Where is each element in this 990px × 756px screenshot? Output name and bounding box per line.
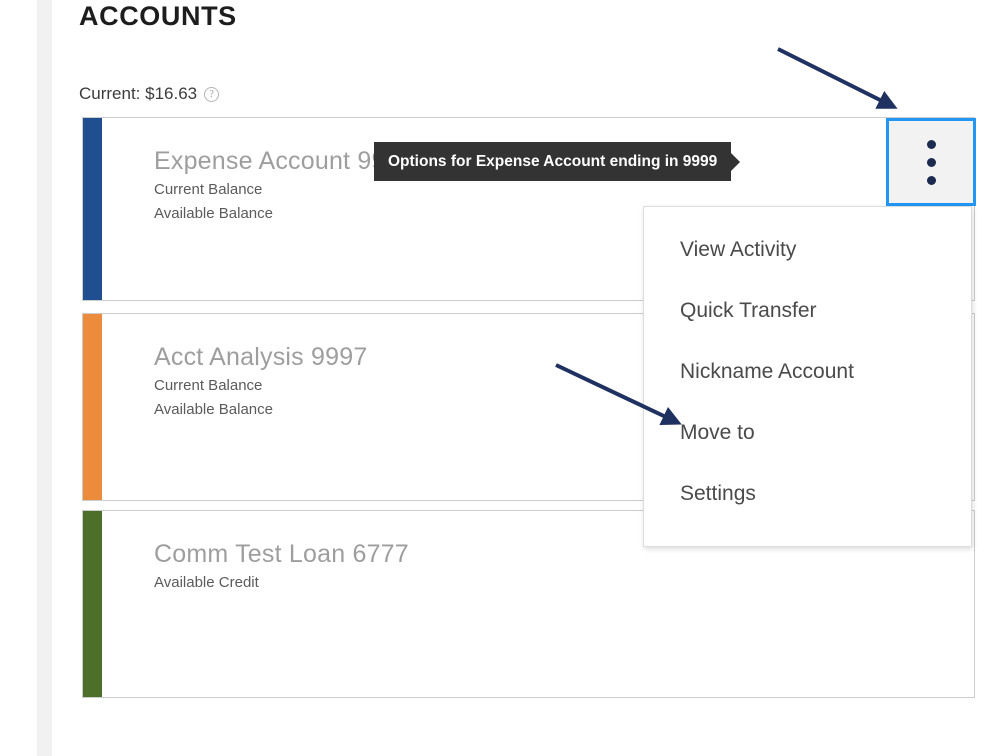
arrow-to-options-button — [778, 49, 884, 102]
page-title: ACCOUNTS — [79, 1, 237, 32]
account-accent-bar — [83, 314, 102, 500]
left-rail-strip — [37, 0, 52, 756]
menu-item-quick-transfer[interactable]: Quick Transfer — [644, 280, 971, 341]
menu-item-settings[interactable]: Settings — [644, 463, 971, 524]
account-options-menu: View ActivityQuick TransferNickname Acco… — [643, 206, 972, 547]
account-accent-bar — [83, 511, 102, 697]
kebab-menu-icon-dot-2 — [927, 158, 936, 167]
account-accent-bar — [83, 118, 102, 300]
current-balance-summary: Current: $16.63 ? — [79, 84, 219, 104]
account-balance-label: Current Balance — [154, 181, 974, 198]
menu-item-nickname-account[interactable]: Nickname Account — [644, 341, 971, 402]
help-circle-icon[interactable]: ? — [204, 87, 219, 102]
menu-item-move-to[interactable]: Move to — [644, 402, 971, 463]
current-balance-label: Current: $16.63 — [79, 84, 197, 104]
options-button-expense-account[interactable] — [886, 118, 976, 206]
account-balance-label: Available Credit — [154, 574, 974, 591]
options-button-tooltip: Options for Expense Account ending in 99… — [374, 142, 731, 181]
kebab-menu-icon-dot-1 — [927, 140, 936, 149]
kebab-menu-icon-dot-3 — [927, 176, 936, 185]
menu-item-view-activity[interactable]: View Activity — [644, 219, 971, 280]
accounts-page: ACCOUNTS Current: $16.63 ? Expense Accou… — [0, 0, 990, 756]
